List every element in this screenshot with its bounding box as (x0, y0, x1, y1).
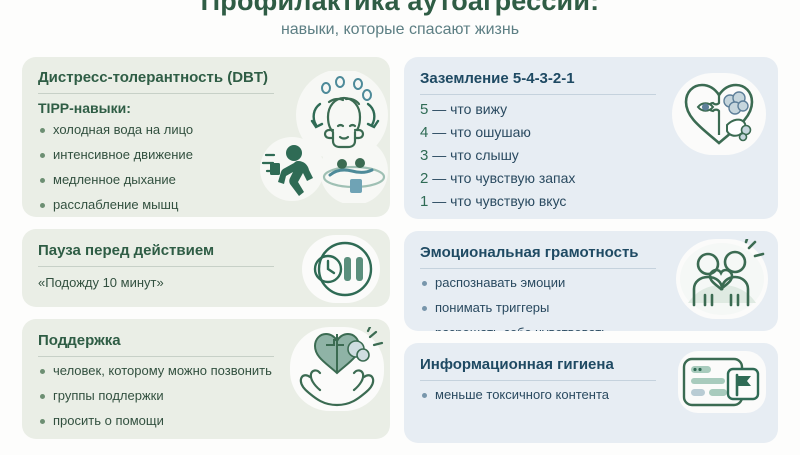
step-text: — что ошушаю (432, 124, 531, 140)
card-heading: Пауза перед действием (38, 242, 375, 267)
card-heading: Информационная гигиена (420, 356, 763, 381)
step-number: 5 (420, 101, 428, 118)
step-text: — что слышу (432, 147, 519, 163)
numbered-list: 5 — что вижу 4 — что ошушаю 3 — что слыш… (420, 101, 763, 210)
bullet-list: распознавать эмоции понимать триггеры ра… (420, 275, 763, 331)
list-item: распознавать эмоции (420, 275, 763, 291)
card-support[interactable]: Поддержка человек, которому можно позвон… (22, 319, 390, 439)
bullet-list: меньше токсичного контента (420, 387, 763, 403)
list-item: группы подлержки (38, 388, 375, 404)
card-grounding-54321[interactable]: Заземление 5-4-3-2-1 5 — что вижу 4 — чт… (404, 57, 778, 219)
step-number: 3 (420, 147, 428, 164)
step-number: 4 (420, 124, 428, 141)
card-body: Поддержка человек, которому можно позвон… (22, 319, 390, 439)
list-item: 2 — что чувствую запах (420, 170, 763, 187)
card-heading: Эмоциональная грамотность (420, 244, 763, 269)
left-column: Дистресс-толерантность (DBT) TIPP-навыки… (22, 57, 390, 451)
list-item: понимать триггеры (420, 300, 763, 316)
step-number: 2 (420, 170, 428, 187)
infographic-page: Профилактика аутоагрессии: навыки, котор… (0, 0, 800, 400)
page-subtitle: навыки, которые спасают жизнь (0, 20, 800, 40)
card-subheading: TIPP-навыки: (38, 100, 375, 117)
list-item: 1 — что чувствую вкус (420, 193, 763, 210)
page-header: Профилактика аутоагрессии: навыки, котор… (0, 0, 800, 40)
card-emotional-literacy[interactable]: Эмоциональная грамотность распознавать э… (404, 231, 778, 331)
list-item: интенсивное движение (38, 147, 375, 163)
list-item: просить о помощи (38, 413, 375, 429)
list-item: 5 — что вижу (420, 101, 763, 118)
card-body: Информационная гигиена меньше токсичного… (404, 343, 778, 425)
step-text: — что чувствую запах (432, 170, 575, 186)
card-heading: Заземление 5-4-3-2-1 (420, 70, 763, 95)
card-pause-before-action[interactable]: Пауза перед действием «Подожду 10 минут» (22, 229, 390, 307)
card-heading: Дистресс-толерантность (DBT) (38, 69, 375, 94)
list-item: меньше токсичного контента (420, 387, 763, 403)
card-body: Дистресс-толерантность (DBT) TIPP-навыки… (22, 57, 390, 217)
card-quote: «Подожду 10 минут» (38, 274, 375, 291)
bullet-list: человек, которому можно позвонить группы… (38, 363, 375, 429)
card-distress-tolerance[interactable]: Дистресс-толерантность (DBT) TIPP-навыки… (22, 57, 390, 217)
card-information-hygiene[interactable]: Информационная гигиена меньше токсичного… (404, 343, 778, 443)
card-body: Заземление 5-4-3-2-1 5 — что вижу 4 — чт… (404, 57, 778, 219)
list-item: 4 — что ошушаю (420, 124, 763, 141)
list-item: расслабление мышц (38, 197, 375, 213)
step-text: — что вижу (432, 101, 507, 117)
list-item: разрешать себе чувствовать (420, 325, 763, 331)
card-body: Эмоциональная грамотность распознавать э… (404, 231, 778, 331)
card-body: Пауза перед действием «Подожду 10 минут» (22, 229, 390, 304)
card-heading: Поддержка (38, 332, 375, 357)
right-column: Заземление 5-4-3-2-1 5 — что вижу 4 — чт… (404, 57, 778, 455)
bullet-list: холодная вода на лицо интенсивное движен… (38, 122, 375, 213)
list-item: холодная вода на лицо (38, 122, 375, 138)
step-number: 1 (420, 193, 428, 210)
list-item: 3 — что слышу (420, 147, 763, 164)
step-text: — что чувствую вкус (432, 193, 566, 209)
list-item: человек, которому можно позвонить (38, 363, 375, 379)
page-title: Профилактика аутоагрессии: (0, 0, 800, 16)
list-item: медленное дыхание (38, 172, 375, 188)
